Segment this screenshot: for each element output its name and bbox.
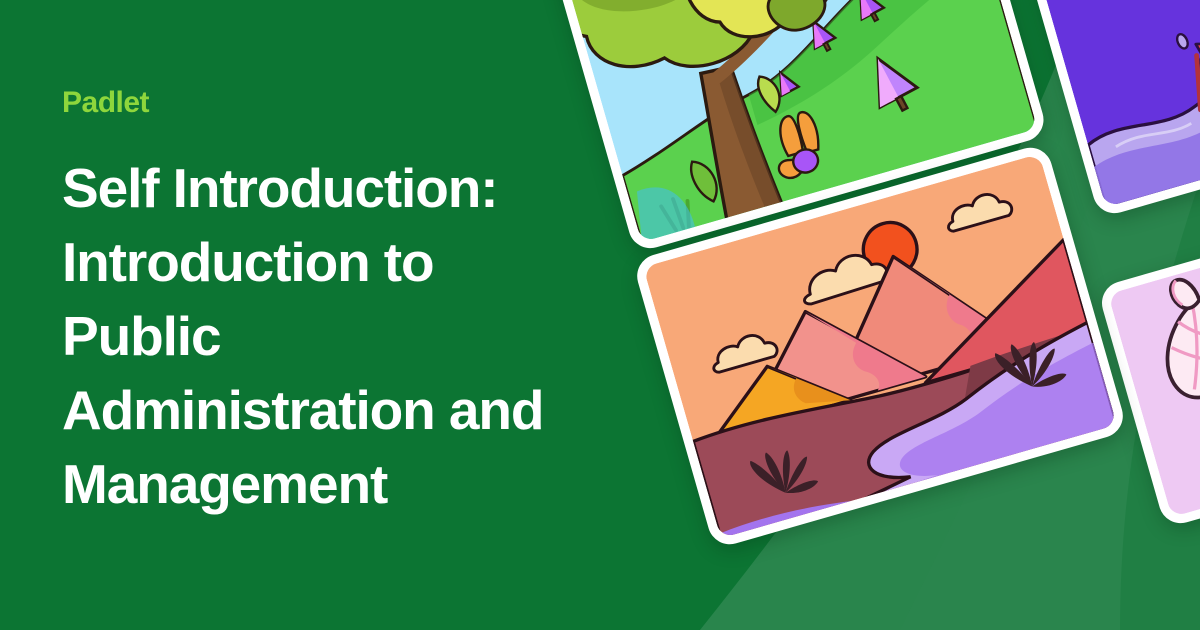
padlet-share-banner: Padlet Self Introduction: Introduction t… bbox=[0, 0, 1200, 630]
seashell-icon bbox=[1166, 279, 1200, 398]
banner-text-column: Padlet Self Introduction: Introduction t… bbox=[62, 88, 582, 522]
padlet-logo[interactable]: Padlet bbox=[62, 88, 582, 118]
page-title: Self Introduction: Introduction to Publi… bbox=[62, 152, 582, 522]
